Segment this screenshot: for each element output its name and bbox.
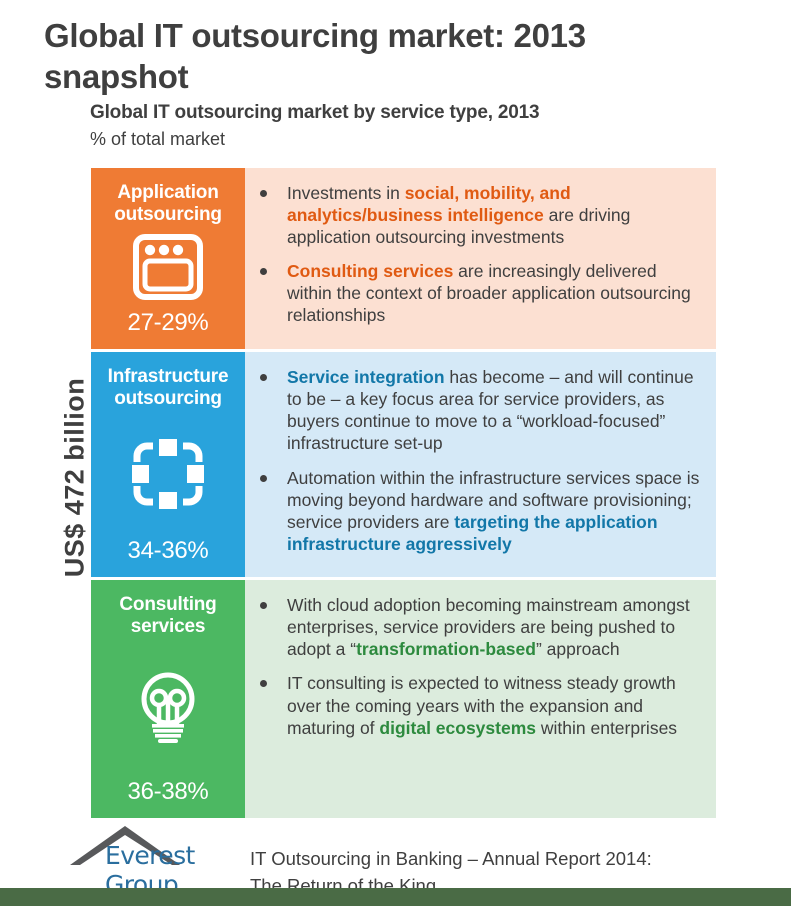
report-caption-line1: IT Outsourcing in Banking – Annual Repor…: [250, 846, 652, 873]
chart-units-label: % of total market: [90, 128, 730, 151]
highlighted-text: Consulting services: [287, 261, 453, 281]
category-share-value: 36-38%: [128, 778, 209, 806]
highlighted-text: digital ecosystems: [379, 718, 536, 738]
list-item: Investments in social, mobility, and ana…: [253, 182, 702, 248]
page-title: Global IT outsourcing market: 2013 snaps…: [44, 16, 644, 98]
service-type-table: Applicationoutsourcing27-29%Investments …: [91, 168, 716, 818]
browser-window-icon: [131, 231, 205, 305]
body-text: Investments in: [287, 183, 405, 203]
category-icon-wrap: [131, 416, 205, 534]
vertical-axis-label: US$ 472 billion: [60, 308, 91, 648]
category-icon-wrap: [131, 644, 205, 775]
bullet-list: Investments in social, mobility, and ana…: [253, 182, 702, 326]
category-cell-application-outsourcing: Applicationoutsourcing27-29%: [91, 168, 245, 349]
bullet-list: With cloud adoption becoming mainstream …: [253, 594, 702, 738]
bottom-accent-bar: [0, 888, 791, 906]
list-item: With cloud adoption becoming mainstream …: [253, 594, 702, 660]
body-text: ” approach: [536, 639, 620, 659]
bullet-list: Service integration has become – and wil…: [253, 366, 702, 554]
category-label-line2: outsourcing: [114, 204, 222, 226]
list-item: Service integration has become – and wil…: [253, 366, 702, 454]
category-label-line2: services: [119, 616, 216, 638]
category-label-line1: Consulting: [119, 594, 216, 616]
category-cell-infrastructure-outsourcing: Infrastructureoutsourcing34-36%: [91, 352, 245, 577]
category-icon-wrap: [131, 231, 205, 305]
table-row: Infrastructureoutsourcing34-36%Service i…: [91, 352, 716, 577]
description-cell-infrastructure-outsourcing: Service integration has become – and wil…: [245, 352, 716, 577]
highlighted-text: Service integration: [287, 367, 445, 387]
table-row: Applicationoutsourcing27-29%Investments …: [91, 168, 716, 349]
highlighted-text: transformation-based: [356, 639, 536, 659]
description-cell-application-outsourcing: Investments in social, mobility, and ana…: [245, 168, 716, 349]
category-label: Infrastructureoutsourcing: [108, 366, 229, 409]
category-label-line2: outsourcing: [108, 388, 229, 410]
category-label: Applicationoutsourcing: [114, 182, 222, 225]
chart-subtitle: Global IT outsourcing market by service …: [90, 101, 730, 126]
list-item: Automation within the infrastructure ser…: [253, 467, 702, 555]
infrastructure-nodes-icon: [131, 437, 205, 511]
list-item: Consulting services are increasingly del…: [253, 260, 702, 326]
category-label: Consultingservices: [119, 594, 216, 637]
category-label-line1: Infrastructure: [108, 366, 229, 388]
category-cell-consulting-services: Consultingservices36-38%: [91, 580, 245, 818]
subtitle-block: Global IT outsourcing market by service …: [90, 101, 730, 151]
category-label-line1: Application: [114, 182, 222, 204]
slide-root: Global IT outsourcing market: 2013 snaps…: [0, 0, 791, 906]
table-row: Consultingservices36-38%With cloud adopt…: [91, 580, 716, 818]
category-share-value: 34-36%: [128, 537, 209, 565]
description-cell-consulting-services: With cloud adoption becoming mainstream …: [245, 580, 716, 818]
lightbulb-icon: [131, 672, 205, 746]
list-item: IT consulting is expected to witness ste…: [253, 672, 702, 738]
category-share-value: 27-29%: [128, 309, 209, 337]
body-text: within enterprises: [536, 718, 677, 738]
everest-group-logo: Everest Group: [68, 824, 243, 874]
